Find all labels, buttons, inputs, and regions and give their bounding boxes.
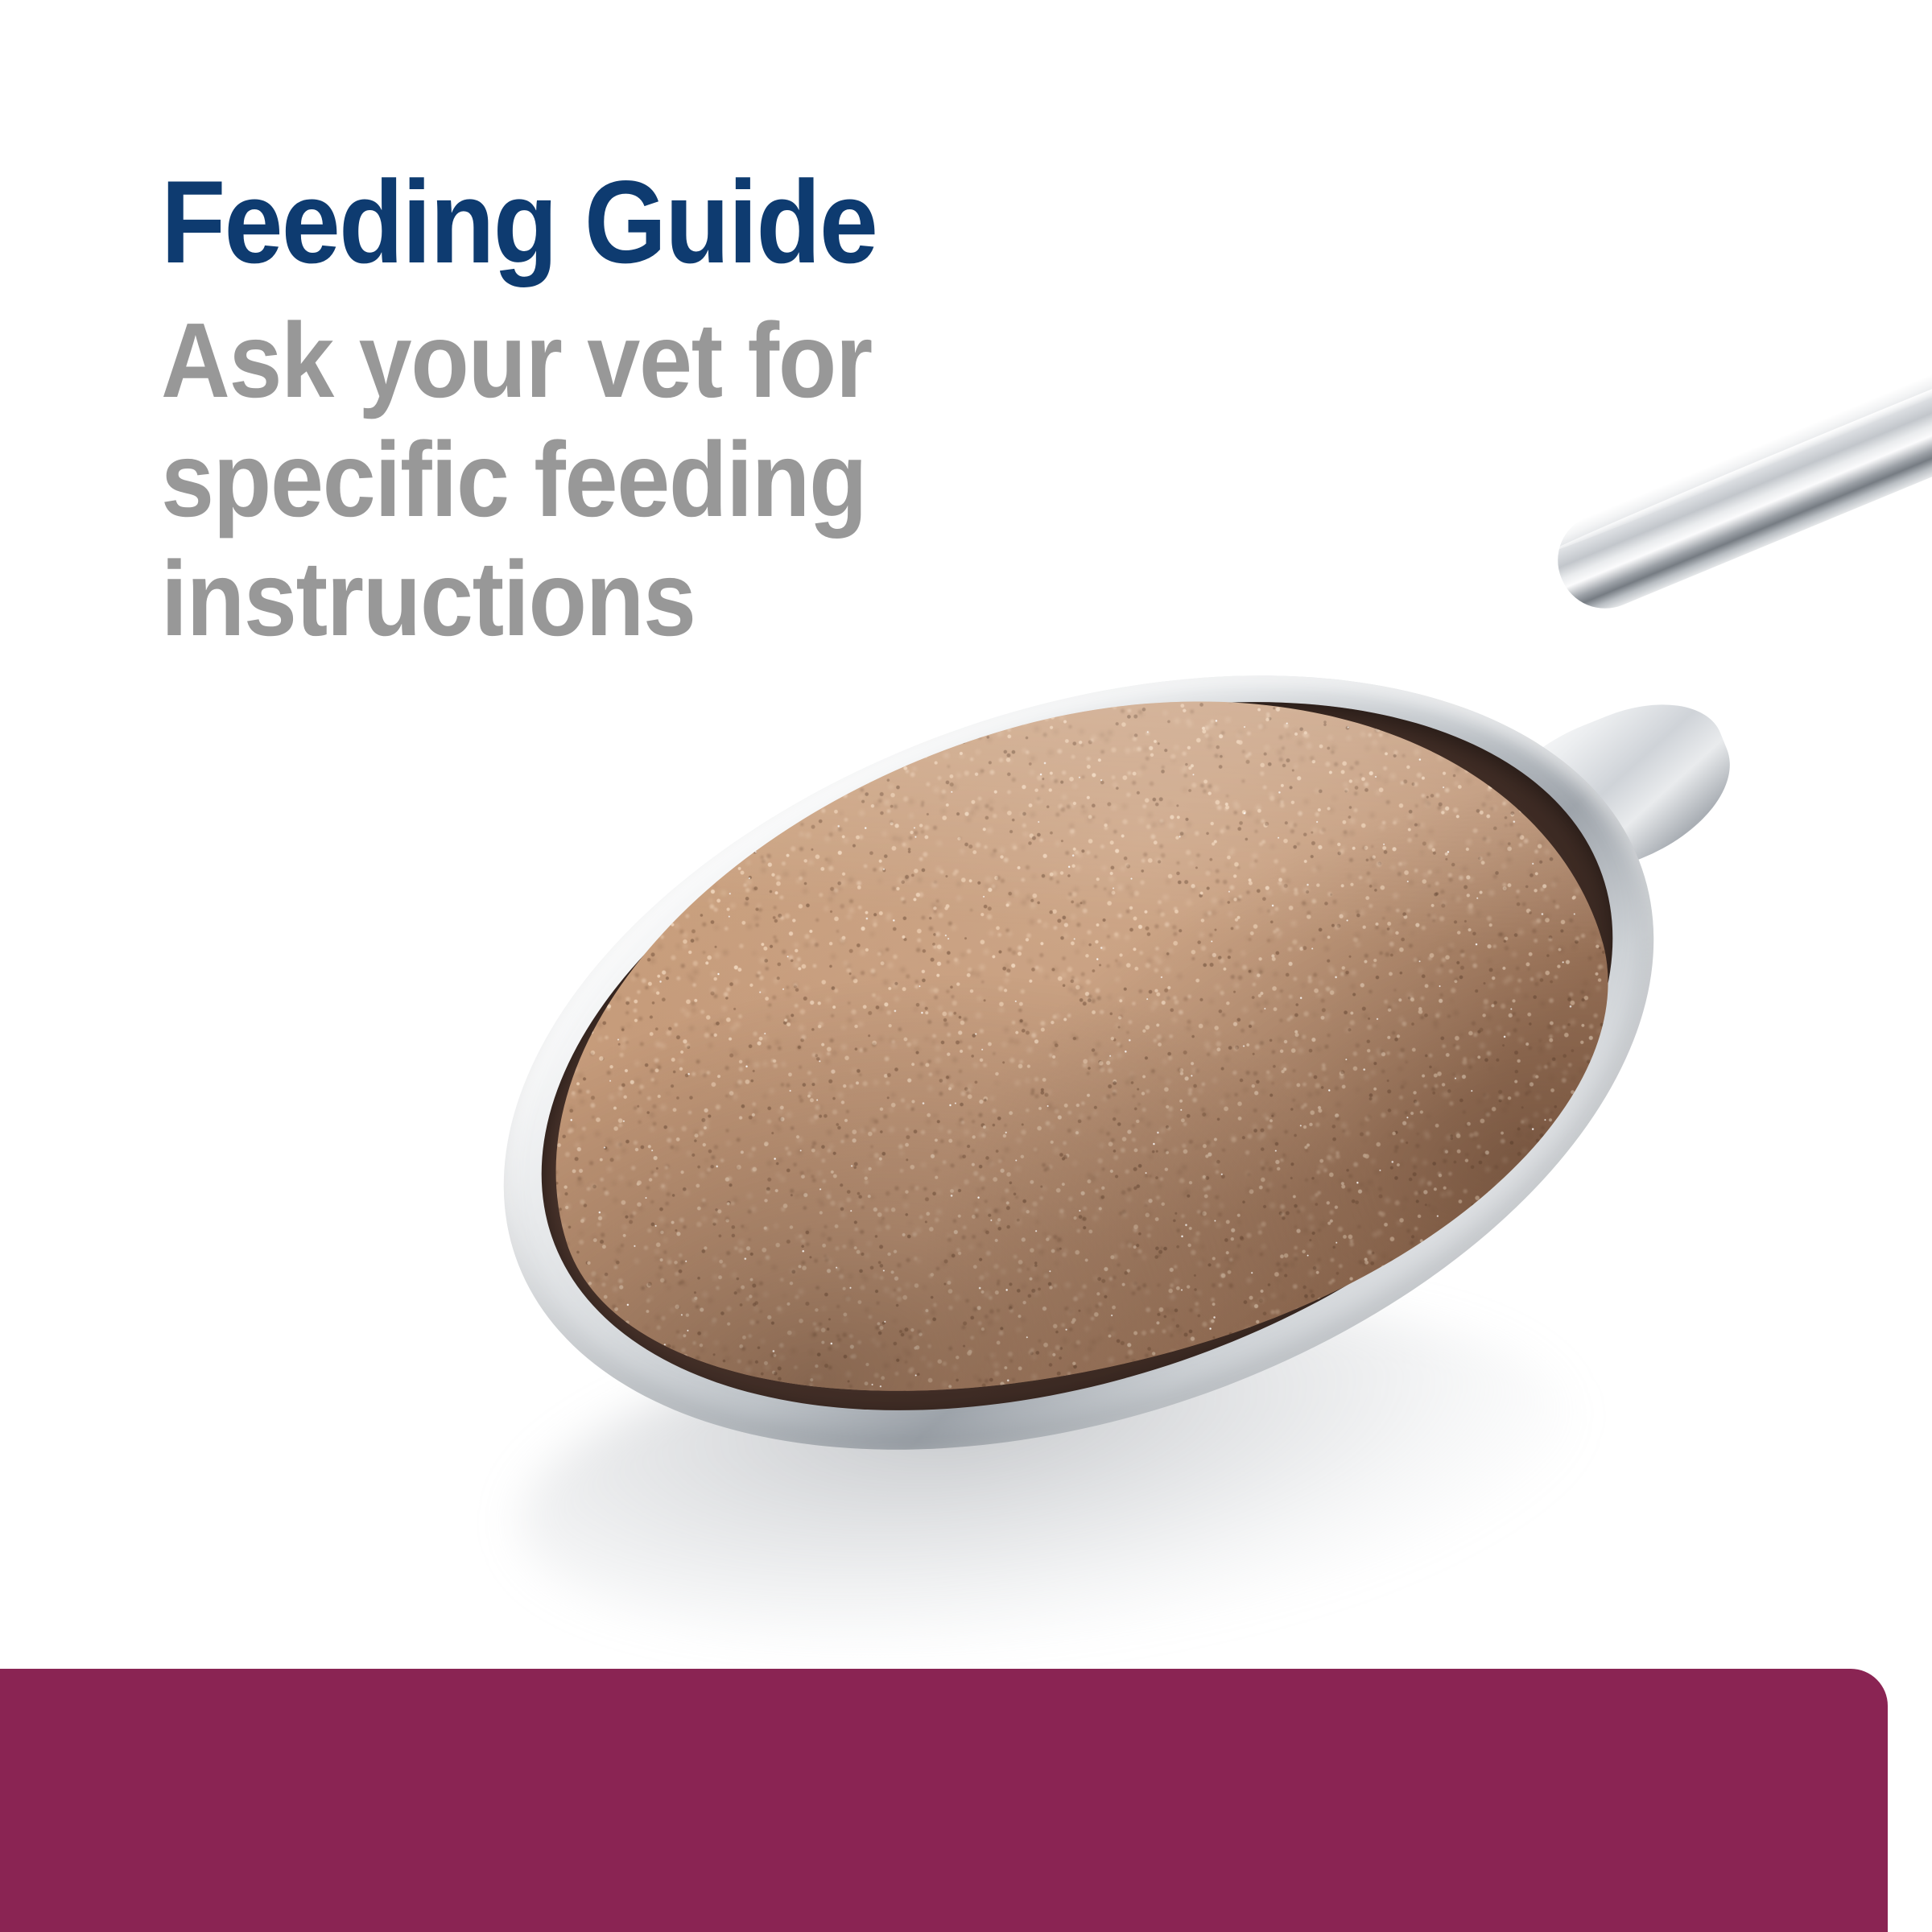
subheading: Ask your vet for specific feeding instru…: [161, 301, 1161, 658]
page-title: Feeding Guide: [161, 161, 1088, 283]
bottom-brand-bar: [0, 1669, 1888, 1932]
poster-canvas: Feeding Guide Ask your vet for specific …: [0, 0, 1932, 1932]
headline-block: Feeding Guide Ask your vet for specific …: [161, 161, 1191, 658]
subheading-line-2: specific feeding: [161, 420, 1161, 539]
spoon-handle: [1543, 295, 1932, 623]
subheading-line-3: instructions: [161, 539, 1161, 658]
subheading-line-1: Ask your vet for: [161, 301, 1161, 420]
